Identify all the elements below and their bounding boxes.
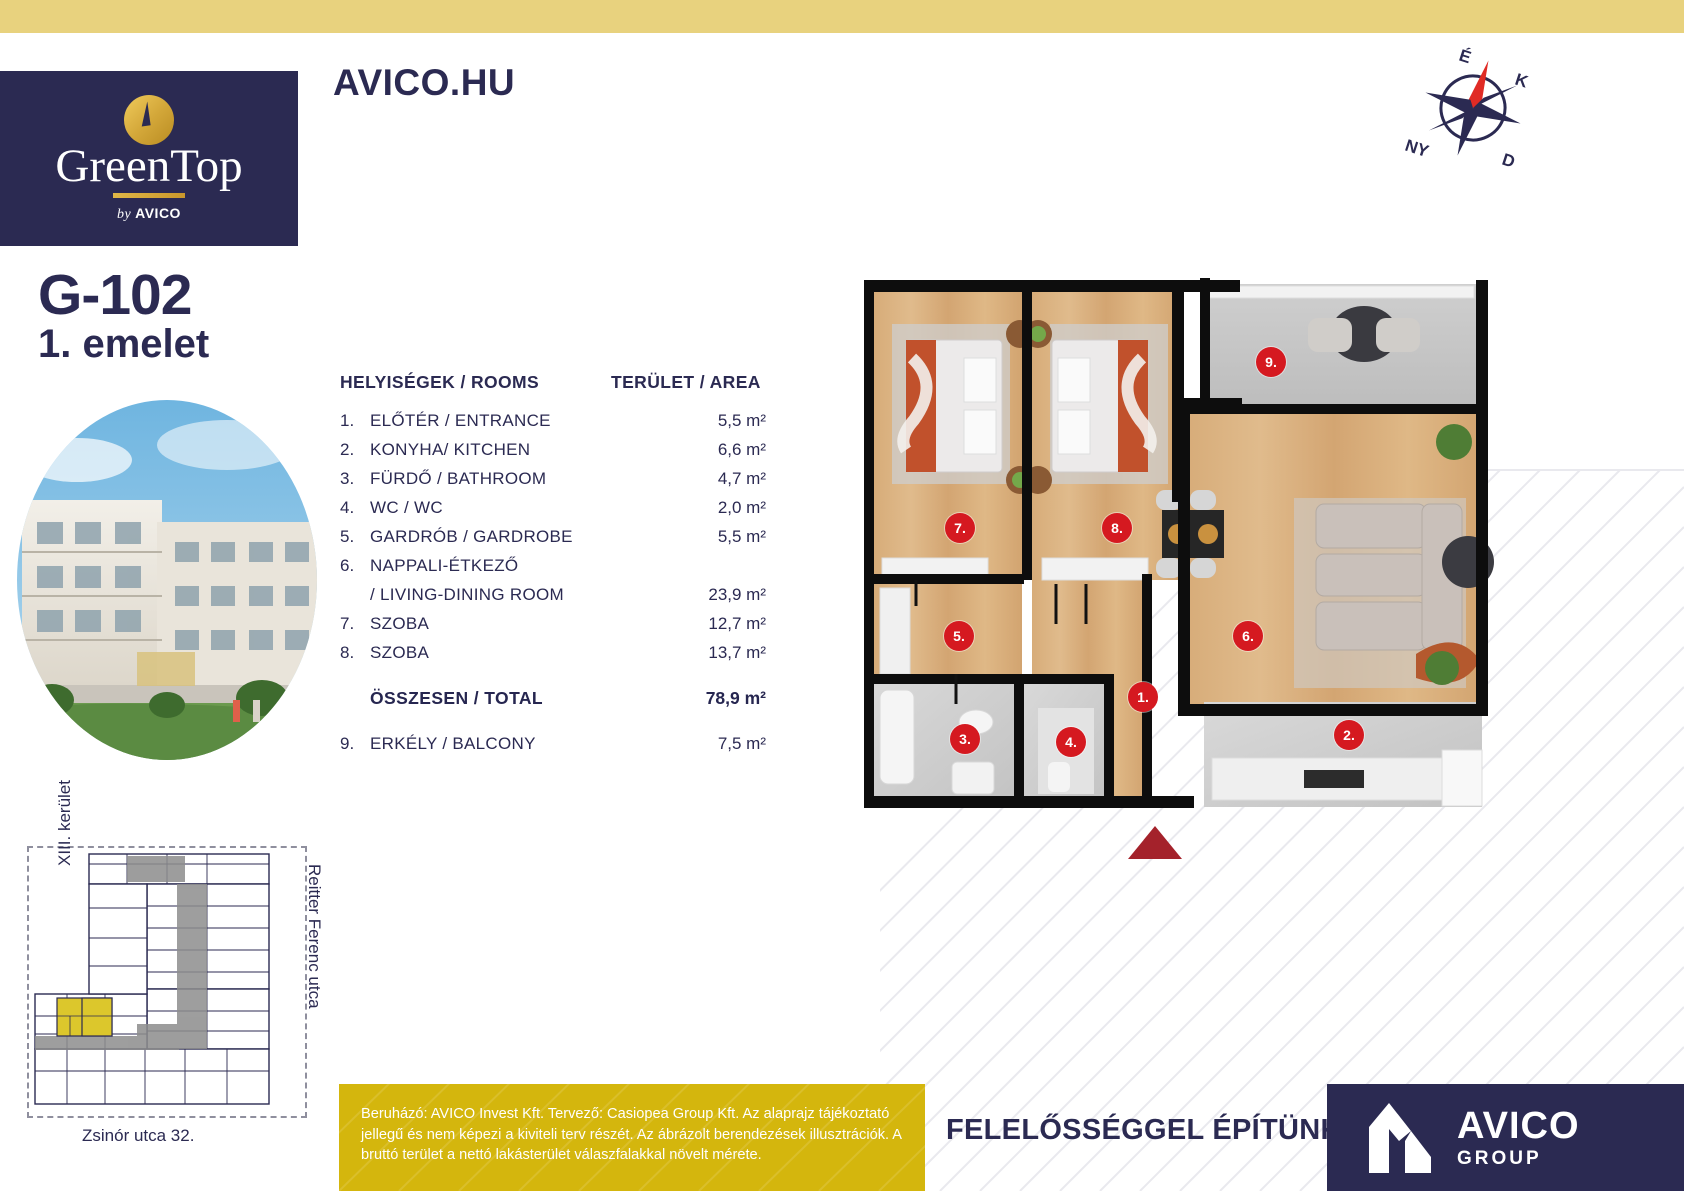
room-name: SZOBA bbox=[370, 643, 598, 663]
room-row: 4.WC / WC2,0 m² bbox=[340, 498, 770, 518]
floor-plan-marker-6[interactable]: 6. bbox=[1233, 621, 1263, 651]
logo-by-text: by bbox=[117, 207, 131, 222]
floor-plan-marker-8[interactable]: 8. bbox=[1102, 513, 1132, 543]
room-row: 7.SZOBA12,7 m² bbox=[340, 614, 770, 634]
floor-plan-marker-4[interactable]: 4. bbox=[1056, 727, 1086, 757]
balcony-name: ERKÉLY / BALCONY bbox=[370, 734, 598, 754]
logo-divider bbox=[113, 193, 185, 198]
floor-plan-marker-7[interactable]: 7. bbox=[945, 513, 975, 543]
total-area: 78,9 m² bbox=[598, 688, 766, 709]
room-number: 5. bbox=[340, 527, 370, 547]
site-plan-street-right-label: Reitter Ferenc utca bbox=[304, 864, 324, 1009]
room-area: 2,0 m² bbox=[598, 498, 766, 518]
room-name: WC / WC bbox=[370, 498, 598, 518]
room-number: 3. bbox=[340, 469, 370, 489]
room-number: 6. bbox=[340, 556, 370, 576]
avico-house-icon bbox=[1359, 1101, 1437, 1175]
room-name: ELŐTÉR / ENTRANCE bbox=[370, 411, 598, 431]
logo-byline: by AVICO bbox=[0, 205, 298, 223]
rooms-table-header: HELYISÉGEK / ROOMS TERÜLET / AREA bbox=[340, 372, 770, 393]
avico-sub: GROUP bbox=[1457, 1149, 1580, 1168]
room-row: 8.SZOBA13,7 m² bbox=[340, 643, 770, 663]
top-accent-bar bbox=[0, 0, 1684, 33]
logo-circle-icon bbox=[124, 95, 174, 145]
room-area: 12,7 m² bbox=[598, 614, 766, 634]
room-area: 5,5 m² bbox=[598, 527, 766, 547]
balcony-area: 7,5 m² bbox=[598, 734, 766, 754]
entrance-arrow-icon bbox=[1128, 826, 1182, 859]
floor-plan[interactable]: 1. 2. 3. 4. 5. 6. 7. 8. 9. bbox=[856, 262, 1496, 822]
room-area: 5,5 m² bbox=[598, 411, 766, 431]
room-area: 13,7 m² bbox=[598, 643, 766, 663]
disclaimer-text: Beruházó: AVICO Invest Kft. Tervező: Cas… bbox=[361, 1104, 917, 1166]
floor-plan-marker-9[interactable]: 9. bbox=[1256, 347, 1286, 377]
room-number: 8. bbox=[340, 643, 370, 663]
floor-plan-marker-2[interactable]: 2. bbox=[1334, 720, 1364, 750]
room-number: 2. bbox=[340, 440, 370, 460]
room-number: 4. bbox=[340, 498, 370, 518]
unit-code: G-102 bbox=[38, 262, 191, 328]
room-number: 7. bbox=[340, 614, 370, 634]
site-plan-border bbox=[27, 846, 307, 1118]
room-row: 5.GARDRÓB / GARDROBE5,5 m² bbox=[340, 527, 770, 547]
tagline: FELELŐSSÉGGEL ÉPÍTÜNK bbox=[946, 1114, 1342, 1147]
rooms-table: HELYISÉGEK / ROOMS TERÜLET / AREA 1.ELŐT… bbox=[340, 372, 770, 763]
compass-rose-icon: É K D NY bbox=[1396, 38, 1551, 178]
column-header-rooms: HELYISÉGEK / ROOMS bbox=[340, 372, 595, 393]
room-row: 2.KONYHA/ KITCHEN6,6 m² bbox=[340, 440, 770, 460]
room-area: 4,7 m² bbox=[598, 469, 766, 489]
room-name: KONYHA/ KITCHEN bbox=[370, 440, 598, 460]
room-row: 1.ELŐTÉR / ENTRANCE5,5 m² bbox=[340, 411, 770, 431]
room-name: NAPPALI-ÉTKEZŐ bbox=[370, 556, 598, 576]
floor-plan-marker-3[interactable]: 3. bbox=[950, 724, 980, 754]
room-name: GARDRÓB / GARDROBE bbox=[370, 527, 598, 547]
room-number: 1. bbox=[340, 411, 370, 431]
room-name: FÜRDŐ / BATHROOM bbox=[370, 469, 598, 489]
compass-west-label: NY bbox=[1403, 136, 1432, 162]
site-plan-district-label: XIII. kerület bbox=[55, 780, 75, 866]
avico-wordmark: AVICO GROUP bbox=[1457, 1107, 1580, 1168]
room-area: 23,9 m² bbox=[598, 585, 766, 605]
page-root: GreenTop by AVICO AVICO.HU É K D NY G bbox=[0, 0, 1684, 1191]
building-photo bbox=[17, 400, 317, 760]
logo-wordmark: GreenTop bbox=[0, 143, 298, 190]
floor-plan-marker-5[interactable]: 5. bbox=[944, 621, 974, 651]
balcony-number: 9. bbox=[340, 734, 370, 754]
disclaimer-panel: Beruházó: AVICO Invest Kft. Tervező: Cas… bbox=[339, 1084, 925, 1191]
column-header-area: TERÜLET / AREA bbox=[595, 372, 770, 393]
floor-plan-marker-1[interactable]: 1. bbox=[1128, 682, 1158, 712]
site-plan-street-bottom-label: Zsinór utca 32. bbox=[82, 1126, 194, 1146]
total-row: ÖSSZESEN / TOTAL 78,9 m² bbox=[340, 688, 770, 709]
greentop-logo: GreenTop by AVICO bbox=[0, 71, 298, 246]
site-url[interactable]: AVICO.HU bbox=[333, 62, 515, 104]
room-row: 6.NAPPALI-ÉTKEZŐ bbox=[340, 556, 770, 576]
unit-floor: 1. emelet bbox=[38, 322, 209, 367]
room-name: SZOBA bbox=[370, 614, 598, 634]
balcony-row: 9. ERKÉLY / BALCONY 7,5 m² bbox=[340, 734, 770, 754]
room-row: 6./ LIVING-DINING ROOM23,9 m² bbox=[340, 585, 770, 605]
total-label: ÖSSZESEN / TOTAL bbox=[340, 688, 598, 709]
compass-north-label: É bbox=[1457, 46, 1474, 68]
room-area: 6,6 m² bbox=[598, 440, 766, 460]
room-row: 3.FÜRDŐ / BATHROOM4,7 m² bbox=[340, 469, 770, 489]
compass-east-label: K bbox=[1513, 70, 1531, 92]
compass-south-label: D bbox=[1500, 150, 1518, 172]
avico-name: AVICO bbox=[1457, 1107, 1580, 1145]
room-name: / LIVING-DINING ROOM bbox=[370, 585, 598, 605]
site-plan[interactable]: XIII. kerület Reitter Ferenc utca Zsinór… bbox=[27, 846, 307, 1118]
logo-company-text: AVICO bbox=[135, 205, 181, 221]
avico-group-logo[interactable]: AVICO GROUP bbox=[1327, 1084, 1684, 1191]
